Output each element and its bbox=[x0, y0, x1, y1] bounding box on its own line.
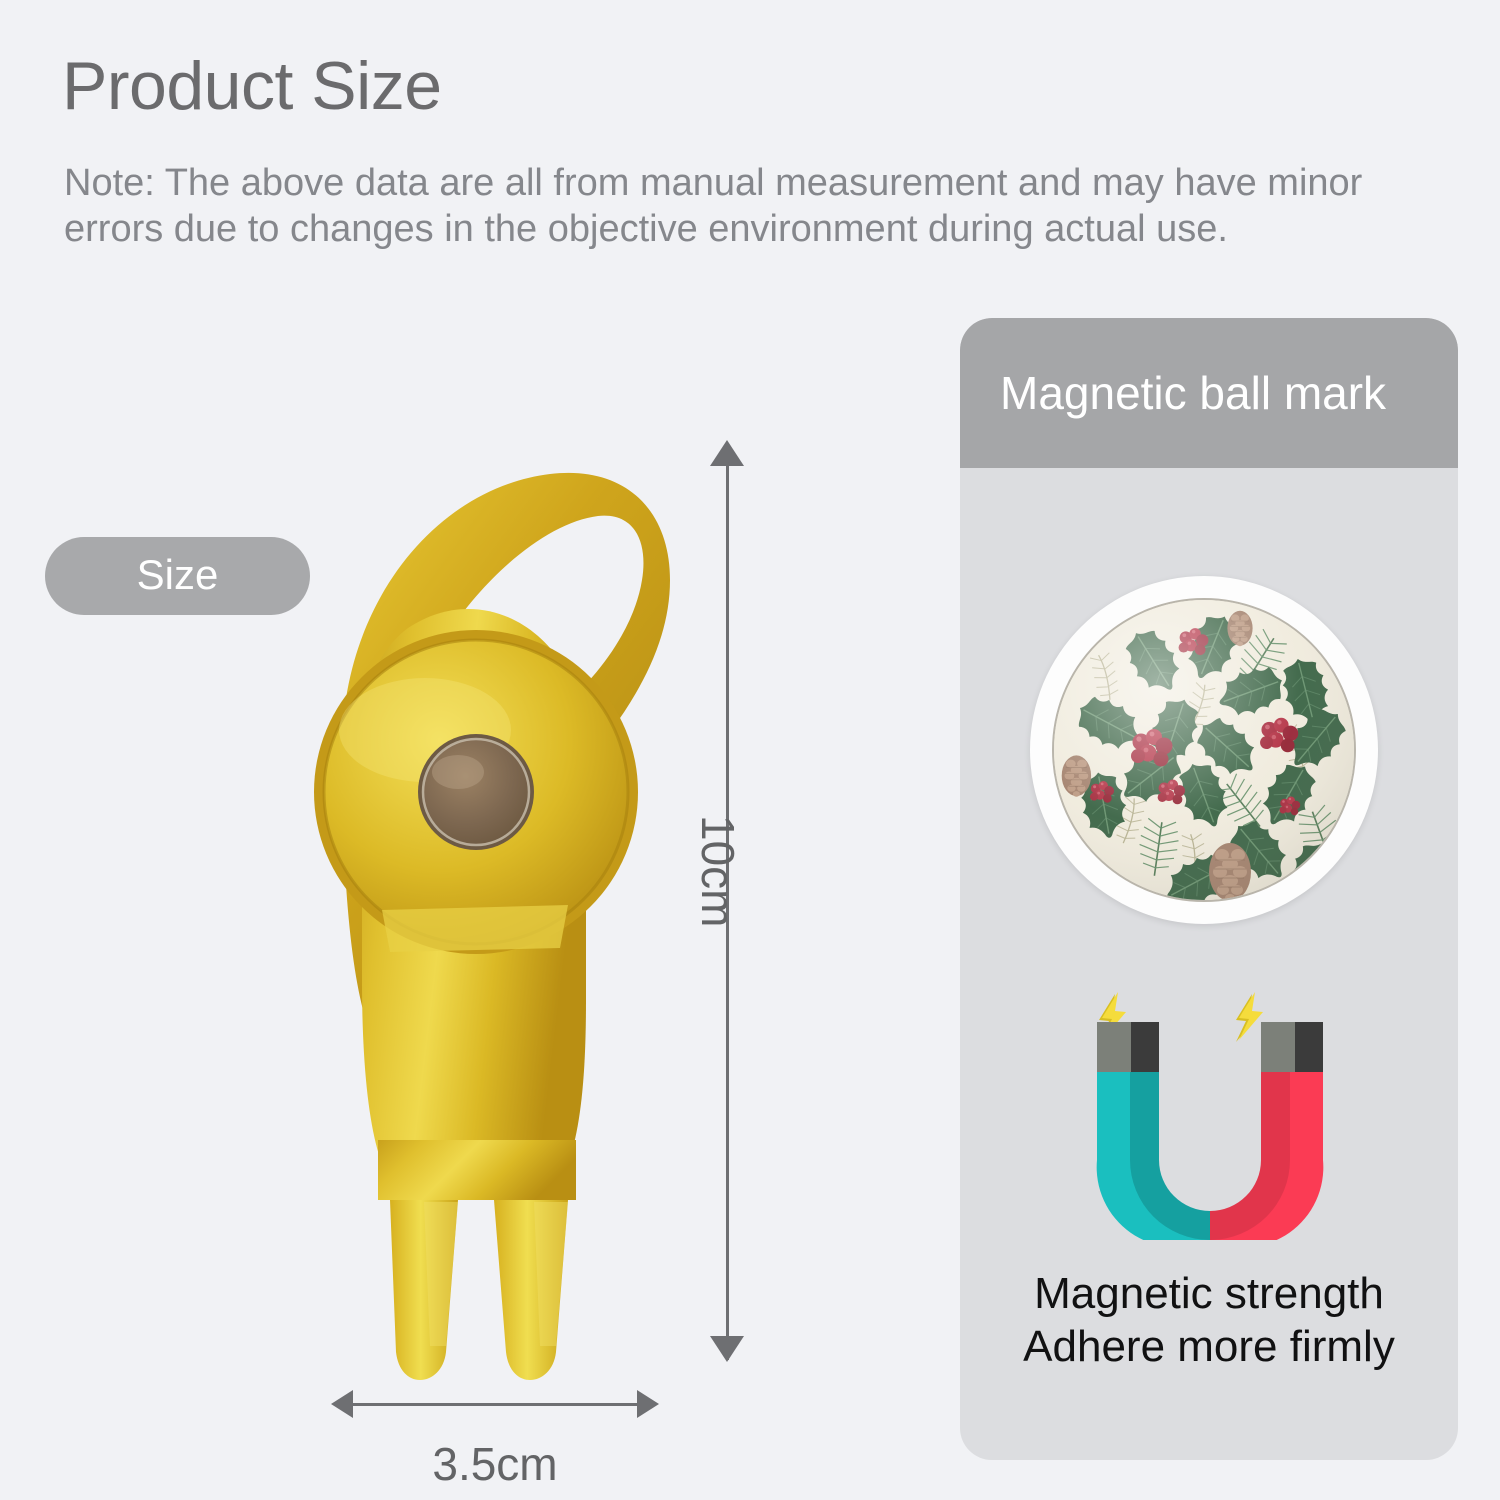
magnetic-panel-header: Magnetic ball mark bbox=[960, 318, 1458, 468]
ball-marker-image bbox=[1030, 576, 1378, 924]
dimension-arrow-right-icon bbox=[637, 1390, 659, 1418]
magnetic-strength-caption: Magnetic strength Adhere more firmly bbox=[960, 1268, 1458, 1374]
magnetic-caption-line-1: Magnetic strength bbox=[960, 1268, 1458, 1321]
magnetic-caption-line-2: Adhere more firmly bbox=[960, 1321, 1458, 1374]
measurement-note: Note: The above data are all from manual… bbox=[64, 160, 1459, 253]
ball-marker-disc bbox=[1052, 598, 1356, 902]
magnetic-panel-title: Magnetic ball mark bbox=[1000, 366, 1386, 420]
size-badge-label: Size bbox=[137, 551, 219, 599]
product-image-divot-tool bbox=[250, 440, 720, 1400]
dimension-width-label: 3.5cm bbox=[0, 1437, 990, 1491]
dimension-height-label: 10cm bbox=[691, 815, 745, 927]
horseshoe-magnet-icon bbox=[1085, 990, 1335, 1240]
dimension-arrow-down-icon bbox=[710, 1336, 744, 1362]
spark-right-icon bbox=[1236, 992, 1263, 1042]
dimension-line-horizontal bbox=[340, 1403, 650, 1406]
page-title: Product Size bbox=[62, 52, 442, 120]
magnetic-ball-mark-panel: Magnetic ball mark bbox=[960, 318, 1458, 1460]
